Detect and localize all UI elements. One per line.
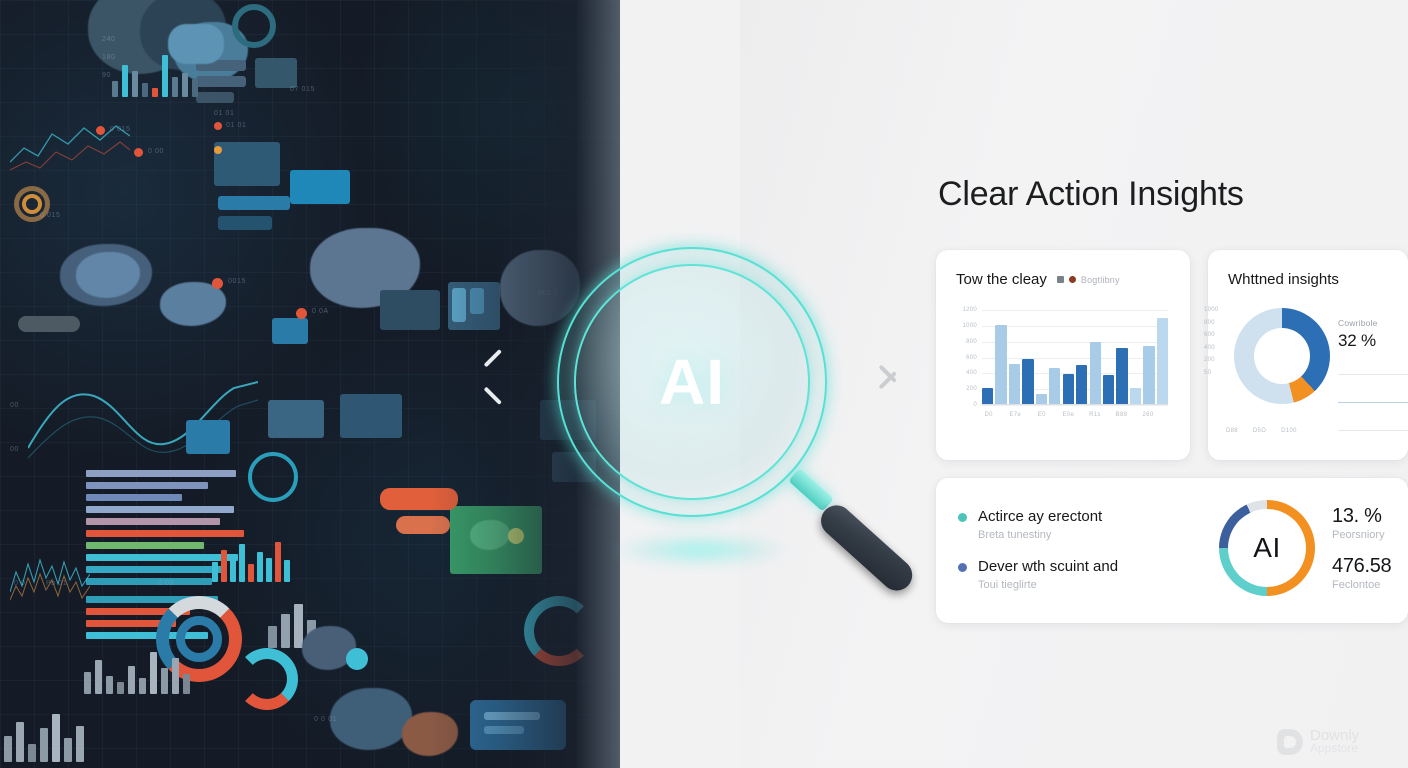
chevron-right-icon[interactable] — [878, 352, 908, 400]
bullet-subtitle: Toui tieglirte — [978, 579, 1118, 592]
donut-divider — [1338, 430, 1408, 431]
collage-card — [18, 316, 80, 332]
collage-card — [268, 400, 324, 438]
collage-label: 01 01 — [214, 110, 235, 117]
collage-dot — [214, 122, 222, 130]
bar-chart-y-label: 800 — [966, 339, 977, 345]
data-collage-panel: 240 180 90 07 015 01 01 01 01 0 015 — [0, 0, 620, 768]
donut-y-label: 800 — [1204, 317, 1219, 330]
summary-stats: 13. %Peorsniory476.58Feclontoe — [1332, 505, 1391, 591]
collage-bar-chart — [0, 700, 110, 762]
bar-chart-x-label: 260 — [1141, 412, 1154, 418]
collage-card — [255, 58, 297, 88]
donut-y-label: 600 — [1204, 329, 1219, 342]
bar-chart-x-label: E7e — [1009, 412, 1022, 418]
dashboard-panel: Clear Action Insights Tow the cleay Bogt… — [936, 0, 1408, 768]
collage-label: 0 0A — [312, 308, 329, 315]
bar-chart-x-label: B89 — [1115, 412, 1128, 418]
bar-card-header: Tow the cleay Bogtlibny — [956, 271, 1120, 288]
bar-chart-x-label — [1155, 412, 1168, 418]
summary-card[interactable]: Actirce ay erectontBreta tunestinyDever … — [936, 478, 1408, 623]
watermark-text: Downly Appstore — [1310, 730, 1359, 754]
bar-chart-x-label — [1022, 412, 1035, 418]
collage-label: 01 01 — [226, 122, 247, 129]
bullet-title: Dever wth scuint and — [978, 558, 1118, 576]
bar-chart-y-label: 0 — [973, 402, 977, 408]
stat-label: Peorsniory — [1332, 529, 1391, 541]
screenshot-stage: 240 180 90 07 015 01 01 01 01 0 015 — [0, 0, 1408, 768]
donut-divider — [1338, 374, 1408, 375]
collage-dot — [346, 648, 368, 670]
bar-chart-bar — [1103, 375, 1114, 405]
bar-chart-axis — [982, 404, 1168, 405]
bar-chart-bar — [1090, 342, 1101, 405]
collage-line-svg — [28, 352, 258, 472]
collage-card — [272, 318, 308, 344]
collage-label: 0 0 — [14, 580, 26, 587]
ai-donut-center-label: AI — [1228, 509, 1306, 587]
list-item[interactable]: Dever wth scuint andToui tieglirte — [958, 558, 1208, 592]
bullet-title: Actirce ay erectont — [978, 508, 1102, 526]
legend-square-icon — [1057, 276, 1064, 283]
bar-chart-x-label — [1075, 412, 1088, 418]
bar-chart-x-label — [1102, 412, 1115, 418]
collage-ring — [232, 4, 276, 48]
donut-x-label: D100 — [1281, 428, 1297, 434]
collage-dot — [212, 278, 223, 289]
bar-chart-x-label: R1s — [1088, 412, 1101, 418]
donut-y-labels: 100080060040020050 — [1204, 304, 1219, 379]
bar-chart-x-labels: D0E7eE0E0eR1sB89260 — [982, 412, 1168, 418]
collage-label: 07 015 — [290, 86, 315, 93]
bar-chart-x-label — [995, 412, 1008, 418]
bar-chart-bar — [1076, 365, 1087, 405]
page-title: Clear Action Insights — [938, 175, 1244, 214]
collage-dot — [214, 146, 222, 154]
collage-label: 0 015 — [110, 126, 131, 133]
collage-ring — [248, 452, 298, 502]
collage-bar-chart — [212, 530, 300, 582]
donut-hole — [1254, 328, 1310, 384]
downly-logo-icon — [1277, 729, 1303, 755]
collage-label: 00 — [10, 446, 19, 453]
collage-ring — [236, 648, 298, 710]
donut-x-label: D88 — [1226, 428, 1238, 434]
stat-item: 476.58Feclontoe — [1332, 555, 1391, 591]
donut-card-header: Whttned insights — [1228, 271, 1339, 288]
donut-y-label: 400 — [1204, 342, 1219, 355]
collage-label: Pb 01 — [46, 580, 67, 587]
bar-chart-x-label — [1048, 412, 1061, 418]
stat-value: 476.58 — [1332, 555, 1391, 578]
bar-chart-x-label: E0 — [1035, 412, 1048, 418]
list-item[interactable]: Actirce ay erectontBreta tunestiny — [958, 508, 1208, 542]
gridline — [982, 405, 1168, 406]
bar-chart-y-label: 1000 — [962, 323, 977, 329]
bar-chart-x-label: E0e — [1062, 412, 1075, 418]
bar-chart-bar — [1049, 368, 1060, 405]
collage-label: 0 0 01 — [314, 716, 337, 723]
bar-chart-x-label: D0 — [982, 412, 995, 418]
donut-x-labels: D88D5OD100 — [1226, 428, 1297, 434]
donut-card-title: Whttned insights — [1228, 271, 1339, 288]
bar-chart-bar — [995, 325, 1006, 405]
donut-stat-value: 32 % — [1338, 331, 1400, 351]
magnifier-handle-grip — [815, 499, 919, 597]
collage-card — [340, 394, 402, 438]
collage-label: 0 015 — [40, 212, 61, 219]
stat-label: Feclontoe — [1332, 579, 1391, 591]
collage-card — [214, 142, 280, 186]
bar-chart-bar — [1116, 348, 1127, 405]
bullet-text: Actirce ay erectontBreta tunestiny — [978, 508, 1102, 542]
collage-card — [290, 170, 350, 204]
bar-chart-bar — [1157, 318, 1168, 405]
stat-value: 13. % — [1332, 505, 1391, 528]
bar-chart-bar — [1009, 364, 1020, 405]
bar-chart-bar — [1022, 359, 1033, 405]
magnifier-ai-label: AI — [557, 247, 827, 517]
bar-chart-bar — [1143, 346, 1154, 405]
bullet-dot-icon — [958, 513, 967, 522]
donut-y-label: 200 — [1204, 354, 1219, 367]
collage-label: 0 00 — [148, 148, 164, 155]
magnifier-light-beam — [578, 530, 822, 570]
collage-label: 180 — [102, 54, 115, 61]
stat-item: 13. %Peorsniory — [1332, 505, 1391, 541]
bar-chart-bar — [1063, 374, 1074, 405]
watermark: Downly Appstore — [1277, 729, 1359, 755]
donut-chart-card[interactable]: Whttned insights 100080060040020050 D88D… — [1208, 250, 1408, 460]
donut-side-stat: Cowribole 32 % — [1338, 318, 1400, 351]
bar-chart-card[interactable]: Tow the cleay Bogtlibny 1200100080060040… — [936, 250, 1190, 460]
bar-chart-bars — [982, 310, 1168, 405]
bullet-subtitle: Breta tunestiny — [978, 529, 1102, 542]
magnifier-graphic: AI — [548, 238, 908, 598]
legend-circle-icon — [1069, 276, 1076, 283]
bar-chart-plot: 120010008006004002000 — [982, 310, 1168, 405]
donut-y-label: 50 — [1204, 367, 1219, 380]
ai-donut-chart: AI — [1219, 500, 1315, 596]
bar-chart-y-label: 600 — [966, 355, 977, 361]
legend-label: Bogtlibny — [1081, 275, 1120, 285]
collage-ring — [22, 194, 42, 214]
collage-bar-chart — [84, 636, 214, 694]
bar-card-title: Tow the cleay — [956, 271, 1047, 288]
donut-chart-plot — [1234, 308, 1330, 404]
bar-chart-y-label: 200 — [966, 386, 977, 392]
collage-label: 90 — [102, 72, 111, 79]
donut-y-label: 1000 — [1204, 304, 1219, 317]
chevron-left-icon[interactable] — [476, 352, 506, 400]
bar-chart-y-label: 400 — [966, 370, 977, 376]
donut-stat-label: Cowribole — [1338, 318, 1400, 328]
collage-card — [218, 196, 290, 210]
bar-chart-x-label — [1128, 412, 1141, 418]
stat-spacer — [1332, 541, 1391, 555]
collage-dot — [134, 148, 143, 157]
collage-dot — [96, 126, 105, 135]
collage-dot — [296, 308, 307, 319]
bar-chart-bar — [982, 388, 993, 405]
bar-chart-bar — [1130, 388, 1141, 405]
bar-chart-y-label: 1200 — [962, 307, 977, 313]
donut-divider — [1338, 402, 1408, 403]
summary-bullet-list: Actirce ay erectontBreta tunestinyDever … — [958, 508, 1208, 608]
collage-card — [186, 420, 230, 454]
collage-bar-chart — [112, 42, 207, 97]
watermark-line2: Appstore — [1310, 742, 1359, 754]
collage-line-chart — [28, 352, 258, 472]
collage-label: 00 — [10, 402, 19, 409]
collage-card — [218, 216, 272, 230]
donut-x-label: D5O — [1253, 428, 1266, 434]
bar-card-legend: Bogtlibny — [1057, 275, 1120, 285]
bullet-text: Dever wth scuint andToui tieglirte — [978, 558, 1118, 592]
collage-label: 240 — [102, 36, 115, 43]
collage-label: 0015 — [228, 278, 246, 285]
collage-label: 0 00 — [158, 580, 174, 587]
bullet-dot-icon — [958, 563, 967, 572]
